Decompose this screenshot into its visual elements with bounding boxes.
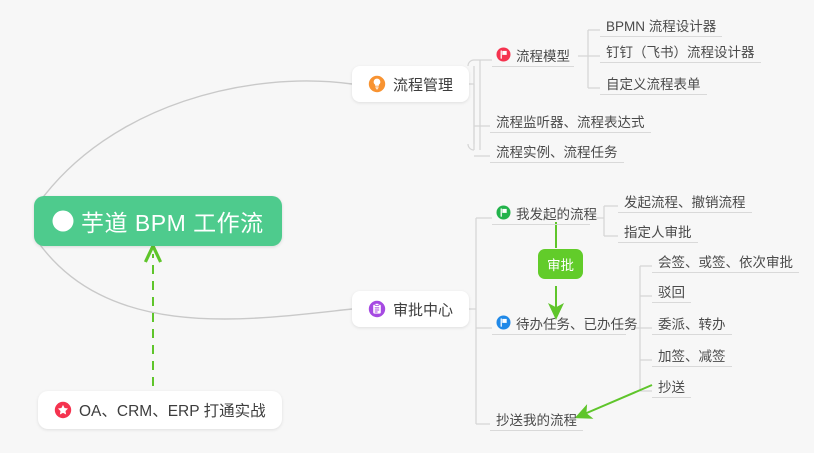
- mindmap-canvas: 芋道 BPM 工作流 OA、CRM、ERP 打通实战 流程管理: [0, 0, 814, 453]
- node-label-dingtalk-feishu-designer: 钉钉（飞书）流程设计器: [606, 46, 755, 60]
- node-assignee-approval[interactable]: 指定人审批: [618, 216, 698, 243]
- node-my-started-processes[interactable]: 我发起的流程: [492, 198, 590, 225]
- approval-tag-label: 审批: [547, 254, 574, 274]
- footer-note-node[interactable]: OA、CRM、ERP 打通实战: [38, 391, 282, 429]
- thumbs-up-icon: [52, 210, 74, 232]
- node-label-assignee-approval: 指定人审批: [624, 226, 692, 240]
- node-label-bpmn-designer: BPMN 流程设计器: [606, 20, 716, 34]
- star-icon: [54, 401, 72, 419]
- edge-root-to-approval-center: [38, 242, 352, 319]
- flag-blue-icon: [496, 315, 511, 330]
- node-label-carbon-copy: 抄送: [658, 381, 685, 395]
- node-carbon-copy[interactable]: 抄送: [652, 371, 691, 398]
- branch-label-approval-center: 审批中心: [393, 299, 453, 320]
- node-label-reject: 驳回: [658, 286, 685, 300]
- node-label-process-listener-expression: 流程监听器、流程表达式: [496, 116, 645, 130]
- node-label-todo-done-tasks: 待办任务、已办任务: [516, 318, 638, 332]
- node-label-add-remove-sign: 加签、减签: [658, 350, 726, 364]
- node-label-cc-to-me-processes: 抄送我的流程: [496, 414, 577, 428]
- approval-tag-node[interactable]: 审批: [538, 249, 583, 279]
- branch-label-process-management: 流程管理: [393, 74, 453, 95]
- node-add-remove-sign[interactable]: 加签、减签: [652, 340, 732, 367]
- edge-root-to-process-management: [38, 81, 352, 204]
- branch-node-process-management[interactable]: 流程管理: [352, 66, 469, 102]
- node-dingtalk-feishu-designer[interactable]: 钉钉（飞书）流程设计器: [600, 36, 761, 63]
- clipboard-icon: [368, 300, 386, 318]
- node-label-start-cancel-process: 发起流程、撤销流程: [624, 196, 746, 210]
- node-label-my-started-processes: 我发起的流程: [516, 208, 597, 222]
- arrow-cc-to-ccprocess: [582, 385, 652, 415]
- node-label-countersign-or-sequential: 会签、或签、依次审批: [658, 256, 793, 270]
- flag-red-icon: [496, 47, 511, 62]
- node-todo-done-tasks[interactable]: 待办任务、已办任务: [492, 308, 626, 335]
- branch-node-approval-center[interactable]: 审批中心: [352, 291, 469, 327]
- root-node-label: 芋道 BPM 工作流: [81, 204, 264, 238]
- node-process-model[interactable]: 流程模型: [492, 40, 574, 67]
- node-label-delegate-transfer: 委派、转办: [658, 318, 726, 332]
- flag-green-icon: [496, 205, 511, 220]
- node-process-instance-task[interactable]: 流程实例、流程任务: [490, 136, 624, 163]
- root-node[interactable]: 芋道 BPM 工作流: [34, 196, 282, 246]
- node-start-cancel-process[interactable]: 发起流程、撤销流程: [618, 186, 752, 213]
- node-delegate-transfer[interactable]: 委派、转办: [652, 308, 732, 335]
- node-label-process-instance-task: 流程实例、流程任务: [496, 146, 618, 160]
- node-label-process-model: 流程模型: [516, 50, 570, 64]
- node-custom-process-form[interactable]: 自定义流程表单: [600, 68, 707, 95]
- footer-note-label: OA、CRM、ERP 打通实战: [79, 399, 266, 421]
- node-bpmn-designer[interactable]: BPMN 流程设计器: [600, 10, 722, 37]
- node-label-custom-process-form: 自定义流程表单: [606, 78, 701, 92]
- node-reject[interactable]: 驳回: [652, 276, 691, 303]
- node-process-listener-expression[interactable]: 流程监听器、流程表达式: [490, 106, 651, 133]
- lightbulb-icon: [368, 75, 386, 93]
- node-countersign-or-sequential[interactable]: 会签、或签、依次审批: [652, 246, 799, 273]
- node-cc-to-me-processes[interactable]: 抄送我的流程: [490, 404, 583, 431]
